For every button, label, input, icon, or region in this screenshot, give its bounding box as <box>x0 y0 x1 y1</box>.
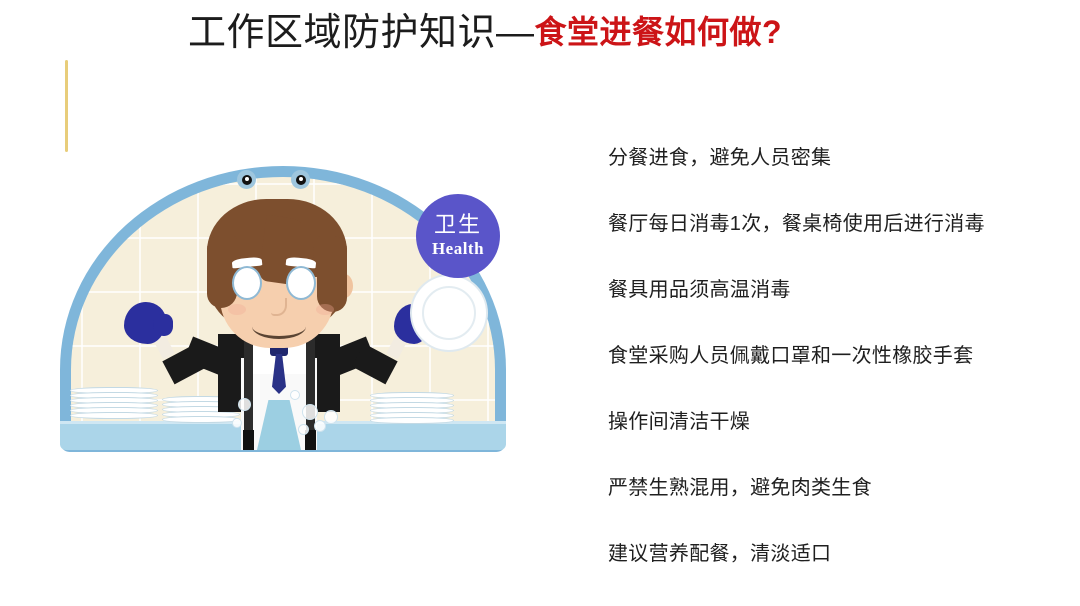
guidance-point: 餐厅每日消毒1次，餐桌椅使用后进行消毒 <box>608 212 1068 236</box>
mouth-smile <box>252 314 306 339</box>
guidance-point: 操作间清洁干燥 <box>608 410 1068 434</box>
cheek-right <box>316 304 334 315</box>
soap-bubble-icon <box>314 420 326 432</box>
guidance-point: 食堂采购人员佩戴口罩和一次性橡胶手套 <box>608 344 1068 368</box>
eye-right <box>286 266 316 300</box>
health-badge: 卫生 Health <box>416 194 500 278</box>
gold-accent-rule <box>65 60 68 152</box>
health-badge-label-en: Health <box>432 239 484 259</box>
illustration-canvas: 卫生 Health <box>52 162 514 467</box>
held-plate-inner-ring <box>422 286 476 340</box>
page-title-accent: 食堂进餐如何做? <box>535 14 783 50</box>
guidance-point: 建议营养配餐，清淡适口 <box>608 542 1068 566</box>
guidance-point: 餐具用品须高温消毒 <box>608 278 1068 302</box>
eye-glint-right <box>299 177 303 181</box>
soap-bubble-icon <box>238 398 251 411</box>
soap-bubble-icon <box>298 424 309 435</box>
eye-left <box>232 266 262 300</box>
guidance-point: 严禁生熟混用，避免肉类生食 <box>608 476 1068 500</box>
guidance-points-list: 分餐进食，避免人员密集 餐厅每日消毒1次，餐桌椅使用后进行消毒 餐具用品须高温消… <box>608 146 1068 566</box>
soap-bubble-icon <box>302 404 318 420</box>
cheek-left <box>228 304 246 315</box>
guidance-point: 分餐进食，避免人员密集 <box>608 146 1068 170</box>
eye-glint-left <box>245 177 249 181</box>
hair-side-right <box>317 236 347 312</box>
slide-canvas: 工作区域防护知识—食堂进餐如何做? <box>0 0 1080 606</box>
illustration-dishwashing-staff: 卫生 Health <box>52 162 514 467</box>
soap-bubble-icon <box>324 410 338 424</box>
page-title: 工作区域防护知识—食堂进餐如何做? <box>188 14 782 52</box>
health-badge-label-cn: 卫生 <box>434 213 482 237</box>
soap-bubble-icon <box>232 418 242 428</box>
apron-clip-left <box>243 430 254 450</box>
soap-bubble-icon <box>290 390 300 400</box>
hair-side-left <box>207 236 237 308</box>
page-title-main: 工作区域防护知识— <box>188 12 535 54</box>
left-glove-thumb <box>153 314 173 336</box>
